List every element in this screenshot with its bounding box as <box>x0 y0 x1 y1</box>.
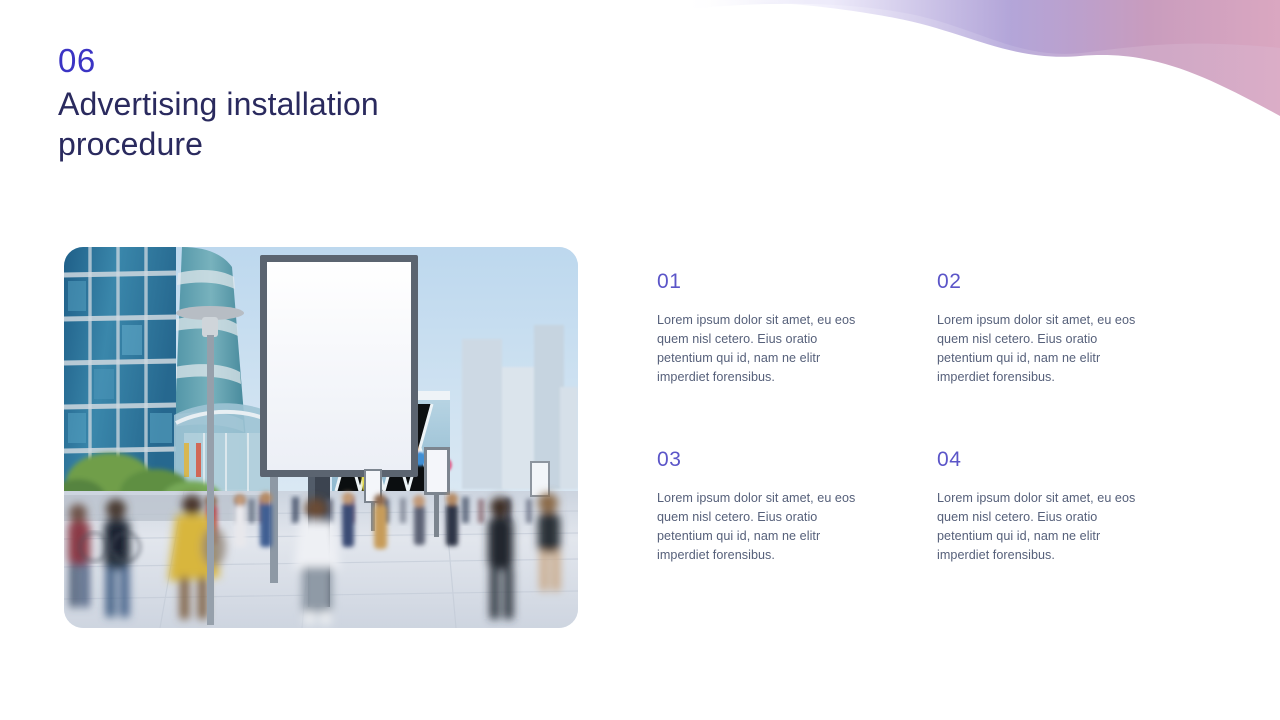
wave-back-ribbon <box>680 0 1280 54</box>
gradient-wave-decoration <box>680 0 1280 135</box>
step-body-02: Lorem ipsum dolor sit amet, eu eos quem … <box>937 311 1155 387</box>
wave-front-ribbon <box>680 0 1280 116</box>
step-body-03: Lorem ipsum dolor sit amet, eu eos quem … <box>657 489 875 565</box>
title-block: 06 Advertising installation procedure <box>58 42 528 164</box>
steps-grid: 01 Lorem ipsum dolor sit amet, eu eos qu… <box>657 270 1197 565</box>
step-body-04: Lorem ipsum dolor sit amet, eu eos quem … <box>937 489 1155 565</box>
step-item-02: 02 Lorem ipsum dolor sit amet, eu eos qu… <box>937 270 1197 387</box>
step-number-04: 04 <box>937 448 1197 471</box>
step-item-01: 01 Lorem ipsum dolor sit amet, eu eos qu… <box>657 270 937 387</box>
step-number-01: 01 <box>657 270 937 293</box>
photo-foreground-pole <box>207 335 214 625</box>
section-number: 06 <box>58 42 528 81</box>
step-item-03: 03 Lorem ipsum dolor sit amet, eu eos qu… <box>657 448 937 565</box>
step-body-01: Lorem ipsum dolor sit amet, eu eos quem … <box>657 311 875 387</box>
page-title: Advertising installation procedure <box>58 85 528 164</box>
gradient-wave-svg <box>680 0 1280 135</box>
step-number-03: 03 <box>657 448 937 471</box>
step-item-04: 04 Lorem ipsum dolor sit amet, eu eos qu… <box>937 448 1197 565</box>
photo-illustration <box>64 247 578 628</box>
photo-office-grid-building <box>64 247 176 489</box>
slide-canvas: 06 Advertising installation procedure <box>0 0 1280 720</box>
city-plaza-billboard-photo <box>64 247 578 628</box>
step-number-02: 02 <box>937 270 1197 293</box>
